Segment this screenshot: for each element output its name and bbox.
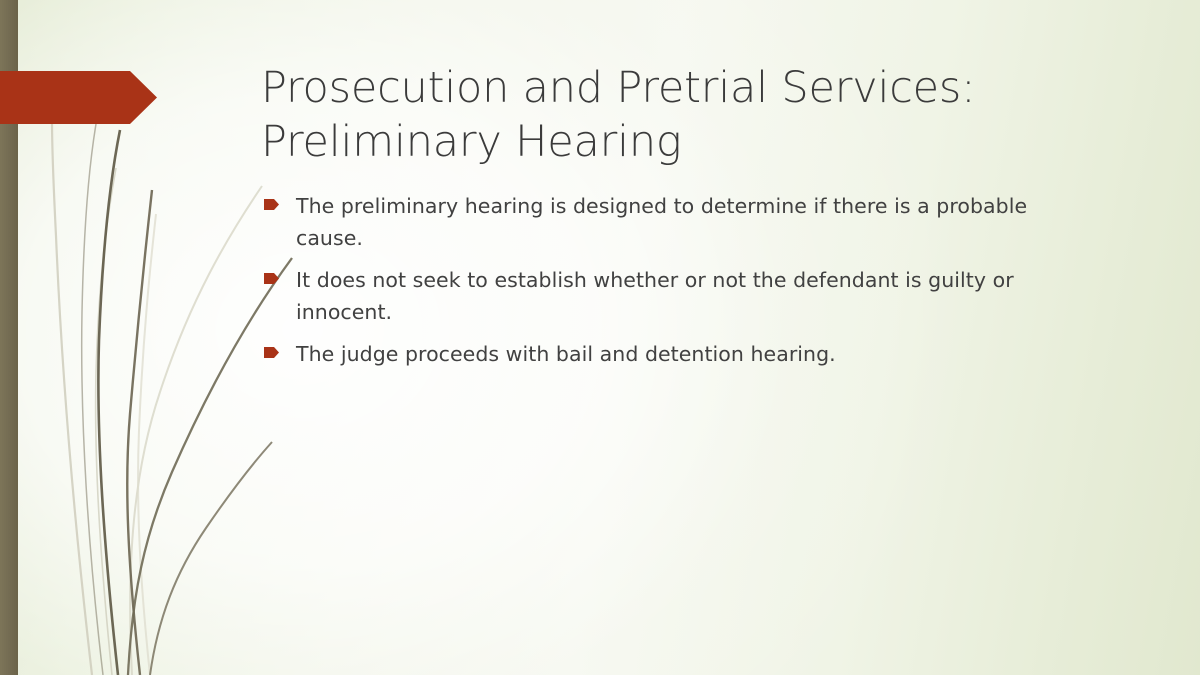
slide-canvas: Prosecution and Pretrial Services: Preli… (0, 0, 1200, 675)
list-item: It does not seek to establish whether or… (258, 264, 1088, 328)
bullet-text: The preliminary hearing is designed to d… (296, 194, 1027, 250)
list-item: The preliminary hearing is designed to d… (258, 190, 1088, 254)
bullet-text: The judge proceeds with bail and detenti… (296, 342, 836, 366)
red-pennant-bullet-icon (264, 273, 279, 284)
list-item: The judge proceeds with bail and detenti… (258, 338, 1088, 370)
bullet-list: The preliminary hearing is designed to d… (258, 190, 1088, 380)
red-pennant-bullet-icon (264, 199, 279, 210)
red-arrow-banner (0, 71, 158, 124)
red-pennant-bullet-icon (264, 347, 279, 358)
slide-title: Prosecution and Pretrial Services: Preli… (261, 61, 1121, 169)
bullet-text: It does not seek to establish whether or… (296, 268, 1014, 324)
